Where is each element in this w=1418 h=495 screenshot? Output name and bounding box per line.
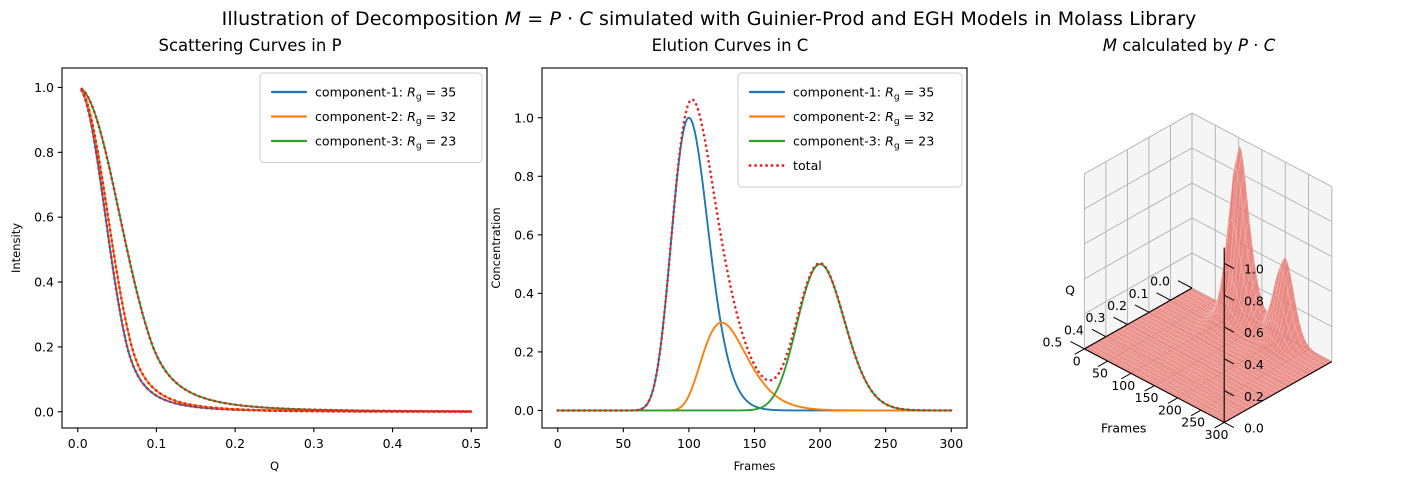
tick-z: 0.2 xyxy=(1244,389,1264,404)
svg-text:0.4: 0.4 xyxy=(383,436,403,451)
panel-matrix3d: M calculated by P · C 050100150200250300… xyxy=(960,36,1418,495)
svg-text:0.0: 0.0 xyxy=(68,436,88,451)
axis-label-frames: Frames xyxy=(1101,420,1146,435)
tick-q: 0.5 xyxy=(1042,334,1062,349)
tick-q: 0.4 xyxy=(1064,322,1084,337)
panel-elution: Elution Curves in C 0501001502002503000.… xyxy=(480,36,980,495)
svg-text:0.5: 0.5 xyxy=(461,436,481,451)
panel-elution-title: Elution Curves in C xyxy=(480,36,980,55)
svg-text:250: 250 xyxy=(874,436,898,451)
elution-plot-svg: 0501001502002503000.00.20.40.60.81.0Fram… xyxy=(480,36,980,476)
svg-text:0.6: 0.6 xyxy=(34,210,54,225)
tick-frames: 50 xyxy=(1092,366,1108,381)
tick-frames: 100 xyxy=(1111,378,1135,393)
svg-text:200: 200 xyxy=(808,436,832,451)
svg-text:Frames: Frames xyxy=(734,459,776,473)
svg-text:0.4: 0.4 xyxy=(34,275,54,290)
svg-text:0.1: 0.1 xyxy=(146,436,166,451)
tick-q: 0.1 xyxy=(1129,286,1149,301)
panel-scattering: Scattering Curves in P 0.00.10.20.30.40.… xyxy=(0,36,500,495)
axis-label-q: Q xyxy=(1065,283,1075,298)
tick-frames: 300 xyxy=(1205,427,1229,442)
svg-text:0.2: 0.2 xyxy=(225,436,245,451)
matplotlib-figure: Illustration of Decomposition M = P · C … xyxy=(0,0,1418,495)
svg-text:0.8: 0.8 xyxy=(34,145,54,160)
svg-text:100: 100 xyxy=(677,436,701,451)
svg-text:0.0: 0.0 xyxy=(34,404,54,419)
tick-frames: 0 xyxy=(1073,353,1081,368)
svg-text:0.6: 0.6 xyxy=(514,227,534,242)
matrix3d-plot-svg: 0501001502002503000.00.10.20.30.40.50.00… xyxy=(960,36,1418,476)
tick-z: 0.6 xyxy=(1244,325,1264,340)
tick-q: 0.0 xyxy=(1150,274,1170,289)
tick-z: 1.0 xyxy=(1244,262,1264,277)
tick-frames: 150 xyxy=(1135,390,1159,405)
tick-q: 0.3 xyxy=(1086,310,1106,325)
legend-label: total xyxy=(793,158,822,173)
svg-text:0.0: 0.0 xyxy=(514,403,534,418)
svg-text:1.0: 1.0 xyxy=(514,110,534,125)
panel-scattering-title: Scattering Curves in P xyxy=(0,36,500,55)
tick-z: 0.0 xyxy=(1244,421,1264,436)
svg-text:0.8: 0.8 xyxy=(514,169,534,184)
tick-frames: 250 xyxy=(1181,415,1205,430)
svg-text:0: 0 xyxy=(554,436,562,451)
scattering-plot-svg: 0.00.10.20.30.40.50.00.20.40.60.81.0QInt… xyxy=(0,36,500,476)
svg-text:Intensity: Intensity xyxy=(9,223,23,273)
panel-matrix3d-title: M calculated by P · C xyxy=(960,36,1418,55)
svg-text:0.2: 0.2 xyxy=(514,344,534,359)
tick-z: 0.8 xyxy=(1244,293,1264,308)
svg-text:Concentration: Concentration xyxy=(489,207,503,288)
svg-text:50: 50 xyxy=(615,436,631,451)
figure-suptitle: Illustration of Decomposition M = P · C … xyxy=(0,8,1418,30)
svg-text:1.0: 1.0 xyxy=(34,80,54,95)
suptitle-text: Illustration of Decomposition M = P · C … xyxy=(222,8,1197,30)
svg-text:Q: Q xyxy=(270,459,279,473)
tick-frames: 200 xyxy=(1158,402,1182,417)
tick-z: 0.4 xyxy=(1244,357,1264,372)
svg-text:0.3: 0.3 xyxy=(304,436,324,451)
svg-text:0.4: 0.4 xyxy=(514,286,534,301)
svg-text:150: 150 xyxy=(743,436,767,451)
svg-text:0.2: 0.2 xyxy=(34,339,54,354)
tick-q: 0.2 xyxy=(1107,298,1127,313)
